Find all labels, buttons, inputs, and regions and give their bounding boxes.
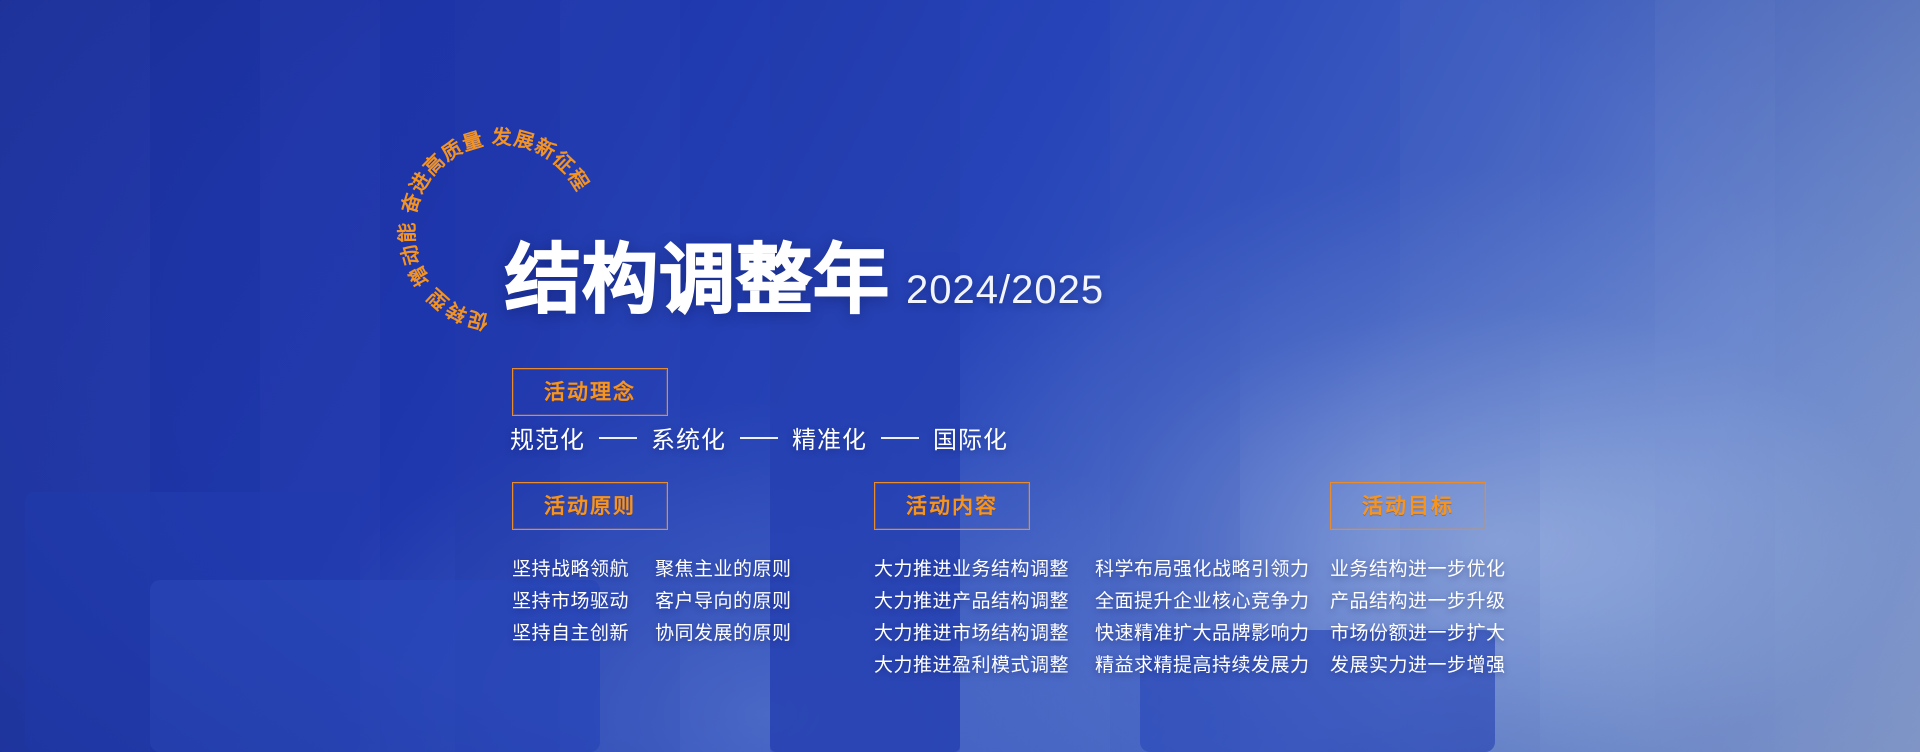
list-item-text: 科学布局强化战略引领力 <box>1095 556 1310 584</box>
badge-goals-label: 活动目标 <box>1362 490 1454 520</box>
column-principles: 活动原则 坚持战略领航聚焦主业的原则坚持市场驱动客户导向的原则坚持自主创新协同发… <box>512 482 792 650</box>
concept-separator-dash <box>881 437 919 439</box>
list-item-text: 大力推进盈利模式调整 <box>874 652 1069 680</box>
list-item-text: 坚持自主创新 <box>512 620 629 648</box>
list-item: 坚持自主创新协同发展的原则 <box>512 618 792 650</box>
list-item-text: 产品结构进一步升级 <box>1330 588 1506 616</box>
badge-concept[interactable]: 活动理念 <box>512 368 668 416</box>
year-label: 2024/2025 <box>906 268 1104 319</box>
goals-rows: 业务结构进一步优化产品结构进一步升级市场份额进一步扩大发展实力进一步增强 <box>1330 554 1506 682</box>
list-item-text: 大力推进市场结构调整 <box>874 620 1069 648</box>
badge-principles[interactable]: 活动原则 <box>512 482 668 530</box>
list-item: 大力推进盈利模式调整精益求精提高持续发展力 <box>874 650 1310 682</box>
list-item-text: 市场份额进一步扩大 <box>1330 620 1506 648</box>
list-item-text: 客户导向的原则 <box>655 588 792 616</box>
list-item-text: 快速精准扩大品牌影响力 <box>1095 620 1310 648</box>
page-title: 结构调整年 <box>505 243 890 319</box>
list-item-text: 大力推进业务结构调整 <box>874 556 1069 584</box>
decor-bar <box>1655 0 1775 752</box>
badge-principles-label: 活动原则 <box>544 490 636 520</box>
title-block: 结构调整年 2024/2025 <box>505 243 1104 319</box>
list-item: 坚持战略领航聚焦主业的原则 <box>512 554 792 586</box>
concept-keyword: 精准化 <box>792 420 867 455</box>
list-item: 大力推进业务结构调整科学布局强化战略引领力 <box>874 554 1310 586</box>
concept-keyword: 国际化 <box>933 420 1008 455</box>
column-content: 活动内容 大力推进业务结构调整科学布局强化战略引领力大力推进产品结构调整全面提升… <box>874 482 1310 682</box>
badge-concept-label: 活动理念 <box>544 376 636 406</box>
list-item: 发展实力进一步增强 <box>1330 650 1506 682</box>
concept-keywords: 规范化系统化精准化国际化 <box>510 420 1008 455</box>
list-item-text: 全面提升企业核心竞争力 <box>1095 588 1310 616</box>
content-rows: 大力推进业务结构调整科学布局强化战略引领力大力推进产品结构调整全面提升企业核心竞… <box>874 554 1310 682</box>
list-item-text: 坚持市场驱动 <box>512 588 629 616</box>
badge-content[interactable]: 活动内容 <box>874 482 1030 530</box>
list-item: 大力推进市场结构调整快速精准扩大品牌影响力 <box>874 618 1310 650</box>
column-goals: 活动目标 业务结构进一步优化产品结构进一步升级市场份额进一步扩大发展实力进一步增… <box>1330 482 1506 682</box>
banner-root: 促转型 增动能 奋进高质量 发展新征程 结构调整年 2024/2025 活动理念… <box>0 0 1920 752</box>
list-item: 业务结构进一步优化 <box>1330 554 1506 586</box>
list-item: 市场份额进一步扩大 <box>1330 618 1506 650</box>
list-item-text: 发展实力进一步增强 <box>1330 652 1506 680</box>
concept-keyword: 规范化 <box>510 420 585 455</box>
list-item-text: 协同发展的原则 <box>655 620 792 648</box>
concept-keyword: 系统化 <box>651 420 726 455</box>
list-item-text: 大力推进产品结构调整 <box>874 588 1069 616</box>
badge-content-label: 活动内容 <box>906 490 998 520</box>
list-item-text: 聚焦主业的原则 <box>655 556 792 584</box>
list-item: 大力推进产品结构调整全面提升企业核心竞争力 <box>874 586 1310 618</box>
principles-rows: 坚持战略领航聚焦主业的原则坚持市场驱动客户导向的原则坚持自主创新协同发展的原则 <box>512 554 792 650</box>
list-item: 坚持市场驱动客户导向的原则 <box>512 586 792 618</box>
badge-goals[interactable]: 活动目标 <box>1330 482 1486 530</box>
list-item-text: 精益求精提高持续发展力 <box>1095 652 1310 680</box>
list-item: 产品结构进一步升级 <box>1330 586 1506 618</box>
concept-separator-dash <box>599 437 637 439</box>
list-item-text: 坚持战略领航 <box>512 556 629 584</box>
list-item-text: 业务结构进一步优化 <box>1330 556 1506 584</box>
concept-separator-dash <box>740 437 778 439</box>
